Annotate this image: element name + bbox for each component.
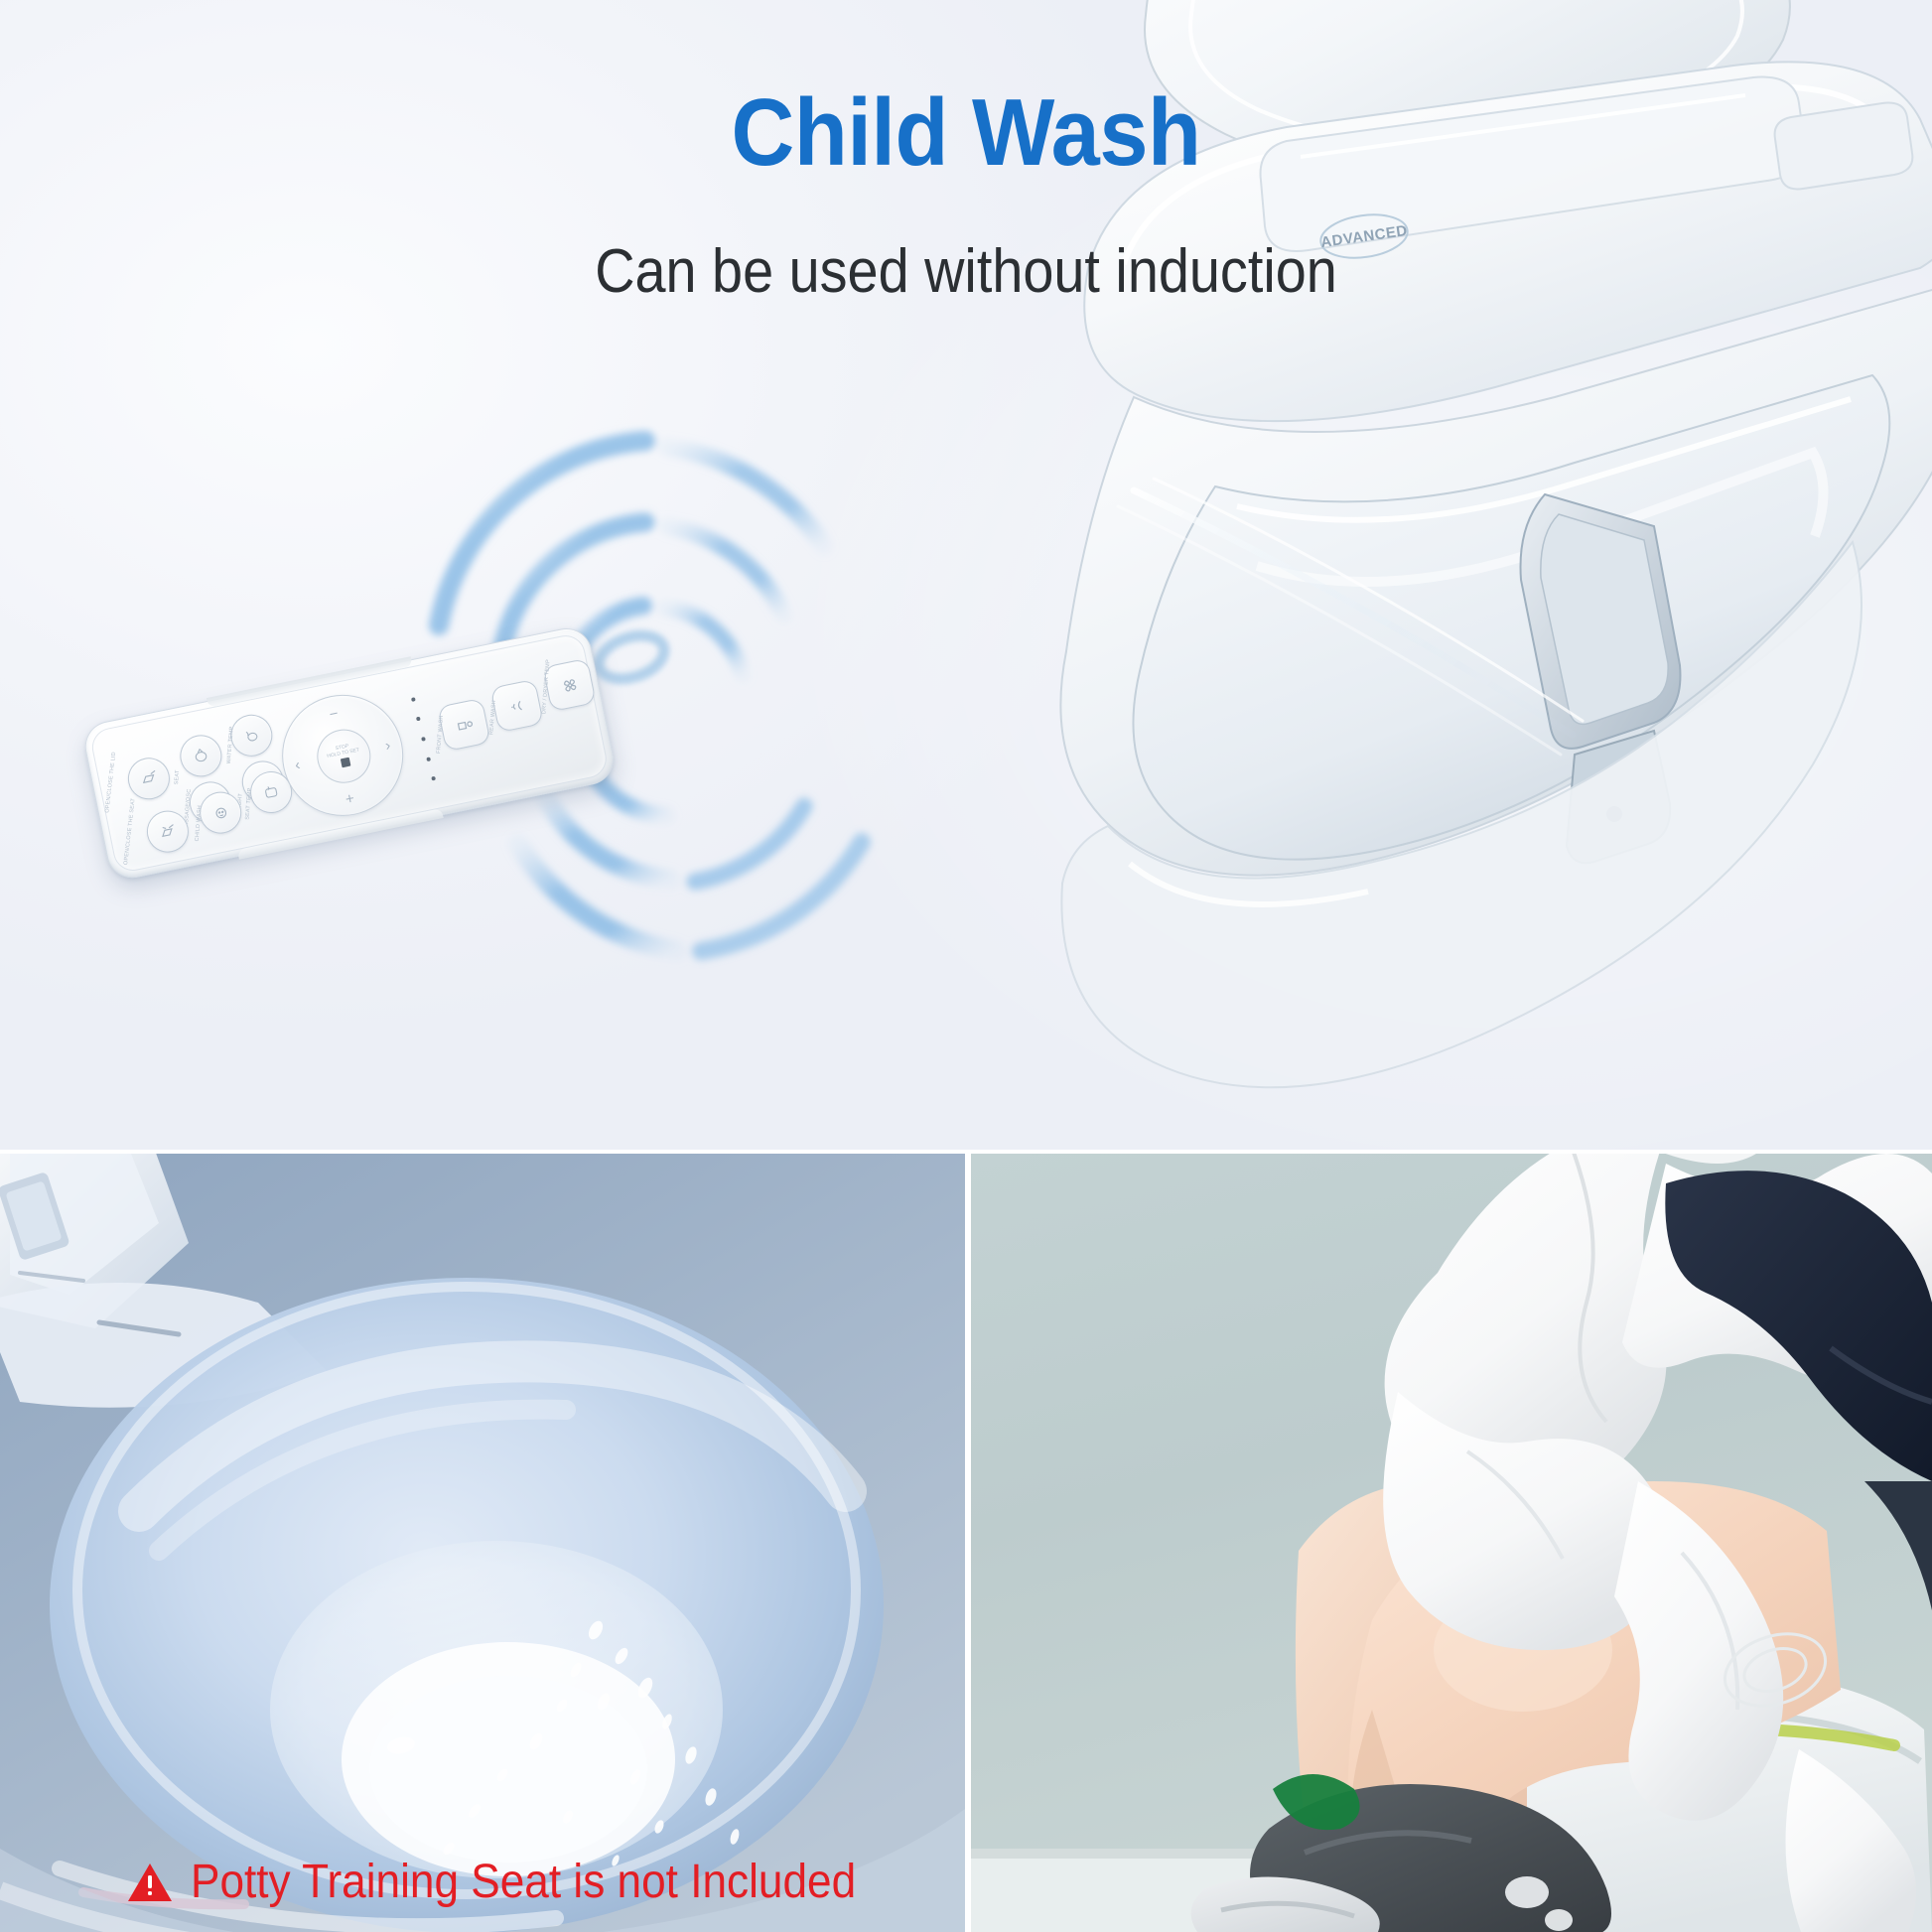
seat-temp-icon [261, 781, 282, 802]
bidet-remote-control[interactable]: OPEN/CLOSE THE LID SEAT WATER TEMP MASSA… [80, 623, 618, 882]
page-subtitle: Can be used without induction [96, 238, 1835, 306]
led-dot [431, 776, 436, 781]
front-wash-icon [452, 713, 477, 738]
led-dot [421, 737, 426, 742]
page-title: Child Wash [77, 83, 1855, 184]
rear-wash-icon [504, 694, 529, 719]
water-temp-icon [241, 725, 262, 746]
product-feature-poster: ADVANCED [0, 0, 1932, 1932]
remote-control-wrapper: OPEN/CLOSE THE LID SEAT WATER TEMP MASSA… [95, 685, 651, 933]
dial-plus[interactable]: + [345, 791, 356, 807]
led-dot [411, 697, 416, 702]
dial-minus[interactable]: − [328, 706, 340, 722]
not-included-warning: Potty Training Seat is not Included [127, 1859, 913, 1906]
remote-caption-seat: SEAT [175, 769, 182, 784]
led-dot [426, 757, 431, 761]
stop-square-icon [340, 758, 350, 768]
child-wash-icon [209, 801, 231, 823]
hero-panel: ADVANCED [0, 0, 1932, 1150]
dial-left[interactable]: ‹ [294, 758, 302, 773]
not-included-warning-text: Potty Training Seat is not Included [191, 1859, 856, 1906]
led-dot [416, 717, 421, 722]
warning-triangle-icon [127, 1862, 173, 1903]
water-spray [1118, 479, 1583, 755]
lid-open-icon [138, 767, 160, 789]
seat-icon [191, 746, 211, 766]
dryer-icon [557, 673, 582, 698]
signal-origin-dot [593, 627, 669, 686]
dial-right[interactable]: › [384, 738, 392, 754]
potty-seat-spray-photo: Potty Training Seat is not Included [0, 1154, 965, 1932]
bottom-panel-row: Potty Training Seat is not Included [0, 1154, 1932, 1932]
wash-nozzle [1521, 494, 1681, 863]
seat-open-icon [157, 820, 179, 842]
child-on-toilet-photo [971, 1154, 1932, 1932]
dial-stop-button[interactable]: STOP HOLD TO SET [313, 725, 376, 788]
